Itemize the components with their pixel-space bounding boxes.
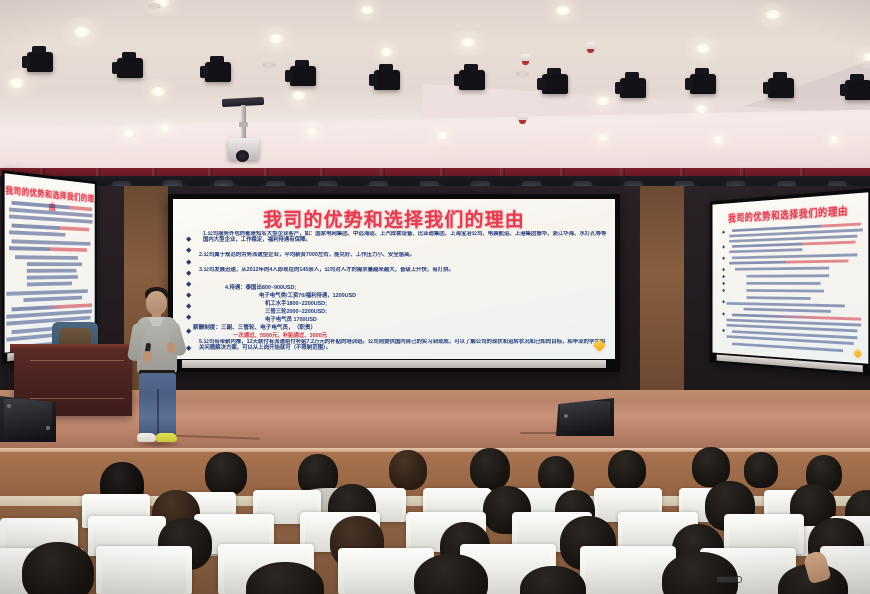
audience-head [22,542,94,594]
downlight [828,136,840,143]
speaker-knob [564,414,568,418]
slide-bullet: ◆ [722,256,725,261]
slide-bullet: ◆ [722,299,725,304]
slide-bullet: ◆ [722,230,725,235]
right-slide: 我司的优势和选择我们的理由 ◆ ◆ ◆ ◆ ◆ ◆ ◆ ◆ ◆ ◆ [713,192,869,363]
slide-line [27,269,77,273]
slide-line [744,308,831,313]
slide-line [12,239,91,245]
stage-cable [520,432,562,434]
stage-monitor-speaker-center [556,398,614,436]
downlight [291,91,306,100]
slide-logo-diamond-icon [853,349,862,359]
downlight [555,6,571,15]
hanging-stage-light [768,78,794,98]
wall-wood-panel [640,186,684,398]
slide-line [27,262,82,266]
slide-line [27,275,78,279]
projector-lens-icon [236,150,249,162]
downlight [596,97,610,105]
slide-bullet: ◆ [722,267,725,272]
downlight [268,34,284,43]
slide-body-line: 1.公司服务外包的都是知名大型企业客户，如：国家电网集团、中远海运、上汽成套设备… [203,231,607,243]
downlight [862,53,870,61]
downlight [712,136,724,143]
main-screen-tray [182,360,606,368]
ceiling-vent [516,71,529,77]
slide-bullet: ◆ [722,288,725,293]
presenter-left-shoe [137,433,156,442]
right-screen-surface: 我司的优势和选择我们的理由 ◆ ◆ ◆ ◆ ◆ ◆ ◆ ◆ ◆ ◆ [713,192,869,363]
speaker-grill [4,399,52,437]
slide-line [27,282,72,287]
slide-title: 我司的优势和选择我们的理由 [173,205,615,232]
downlight [695,44,711,53]
downlight [460,38,476,47]
smoke-detector-icon [520,54,531,62]
hanging-stage-light [290,66,316,86]
slide-bullet: ◆ [722,312,725,317]
speaker-knob [7,404,11,408]
main-slide: 我司的优势和选择我们的理由 ◆ ◆ ◆ ◆ ◆ ◆ ◆ ◆ ◆ ◆ 1.公司服务… [173,199,615,359]
downlight [695,105,708,113]
slide-line [747,289,824,292]
main-center-screen[interactable]: 我司的优势和选择我们的理由 ◆ ◆ ◆ ◆ ◆ ◆ ◆ ◆ ◆ ◆ 1.公司服务… [168,194,620,372]
auditorium-photo: 我司的优势和选择我们的理由 [0,0,870,594]
slide-body-line: 3.公司发展迅速，从2012年的4人即现在的145余人，公司对人才的需求量越来越… [199,267,609,273]
slide-body-line: 三管三轮2000~2200USD; [265,307,485,315]
downlight [360,6,374,14]
downlight [305,128,318,135]
presenter-left-hand [143,351,152,362]
slide-line [747,274,830,277]
smoke-detector-icon [517,113,528,121]
slide-line [9,246,87,252]
slide-line [735,267,829,271]
audience-head [205,452,247,496]
audience-head [608,450,646,490]
slide-bullet: ◆ [722,274,725,279]
presenter [126,285,188,453]
stage-monitor-speaker-left [0,396,56,442]
hanging-stage-light [542,74,568,94]
hanging-stage-light [620,78,646,98]
ceiling-vent [262,62,276,68]
right-side-screen[interactable]: 我司的优势和选择我们的理由 ◆ ◆ ◆ ◆ ◆ ◆ ◆ ◆ ◆ ◆ [710,188,870,376]
audience-head [744,452,778,488]
downlight [73,27,91,37]
downlight [158,125,171,132]
podium-trim-line [30,398,124,399]
slide-bullet: ◆ [186,235,191,243]
slide-bullet: ◆ [186,258,191,266]
slide-bullet: ◆ [186,246,191,254]
slide-line [747,282,821,285]
slide-line [23,296,82,302]
main-screen-surface: 我司的优势和选择我们的理由 ◆ ◆ ◆ ◆ ◆ ◆ ◆ ◆ ◆ ◆ 1.公司服务… [173,199,615,359]
audience-chair [96,546,192,594]
slide-line [6,289,87,296]
smoke-detector-icon [585,42,596,50]
hanging-stage-light [117,58,143,78]
presenter-right-shoe [156,433,177,442]
presenter-right-hand [167,342,175,353]
downlight [597,134,609,141]
eyeglasses-icon [716,576,742,583]
slide-bullet: ◆ [722,328,725,333]
downlight [8,78,25,88]
slide-body-line: 4.待遇：泰国出800~900USD; [225,283,475,291]
slide-body-line-highlight: 一次通过、5500元，补贴通过、3000元 [233,331,463,339]
slide-body-line: 电子电气员 1700USD [265,315,465,323]
speaker-knob [46,426,50,430]
hanging-stage-light [205,62,231,82]
ceiling-vent [148,3,161,9]
podium-trim-line [30,360,124,361]
slide-line [729,248,802,253]
slide-line [15,255,78,260]
ceiling-projector [222,98,264,166]
audience-head [470,448,510,490]
slide-bullet: ◆ [186,269,191,277]
hanging-stage-light [459,70,485,90]
slide-line [732,343,843,353]
slide-body-line: 机工水手1800~2200USD; [265,299,485,307]
slide-body-line: 电子电气类/工资70/福利待遇，1200USD [259,291,509,299]
slide-body-line: 薪酬制度：三副、三管轮、电子电气员，（职责） [193,323,453,331]
downlight [150,87,166,96]
slide-line [9,230,65,236]
projector-rod-collar [239,122,248,127]
slide-line [726,302,844,307]
slide-body-line: 5.公司有带薪内推，12天联付有派遣给付补贴7.2万元的补贴的培训班。公司则提供… [199,339,607,351]
slide-body-line: 2.公司属于规范的劳务派遣型企业，平均薪资7000左右，能兑好、工作压力小、安全… [199,252,609,258]
downlight [436,132,449,139]
slide-bullet: ◆ [722,245,725,250]
hanging-stage-light [690,74,716,94]
audience-head [389,450,427,490]
hanging-stage-light [27,52,53,72]
downlight [380,48,393,56]
presenter-leg-split [157,389,159,435]
slide-line [729,259,848,264]
slide-bullet: ◆ [722,281,725,286]
downlight [765,10,781,19]
downlight [122,130,136,137]
hanging-stage-light [374,70,400,90]
slide-line [747,296,811,300]
slide-line [732,253,857,259]
hanging-stage-light [845,80,870,100]
